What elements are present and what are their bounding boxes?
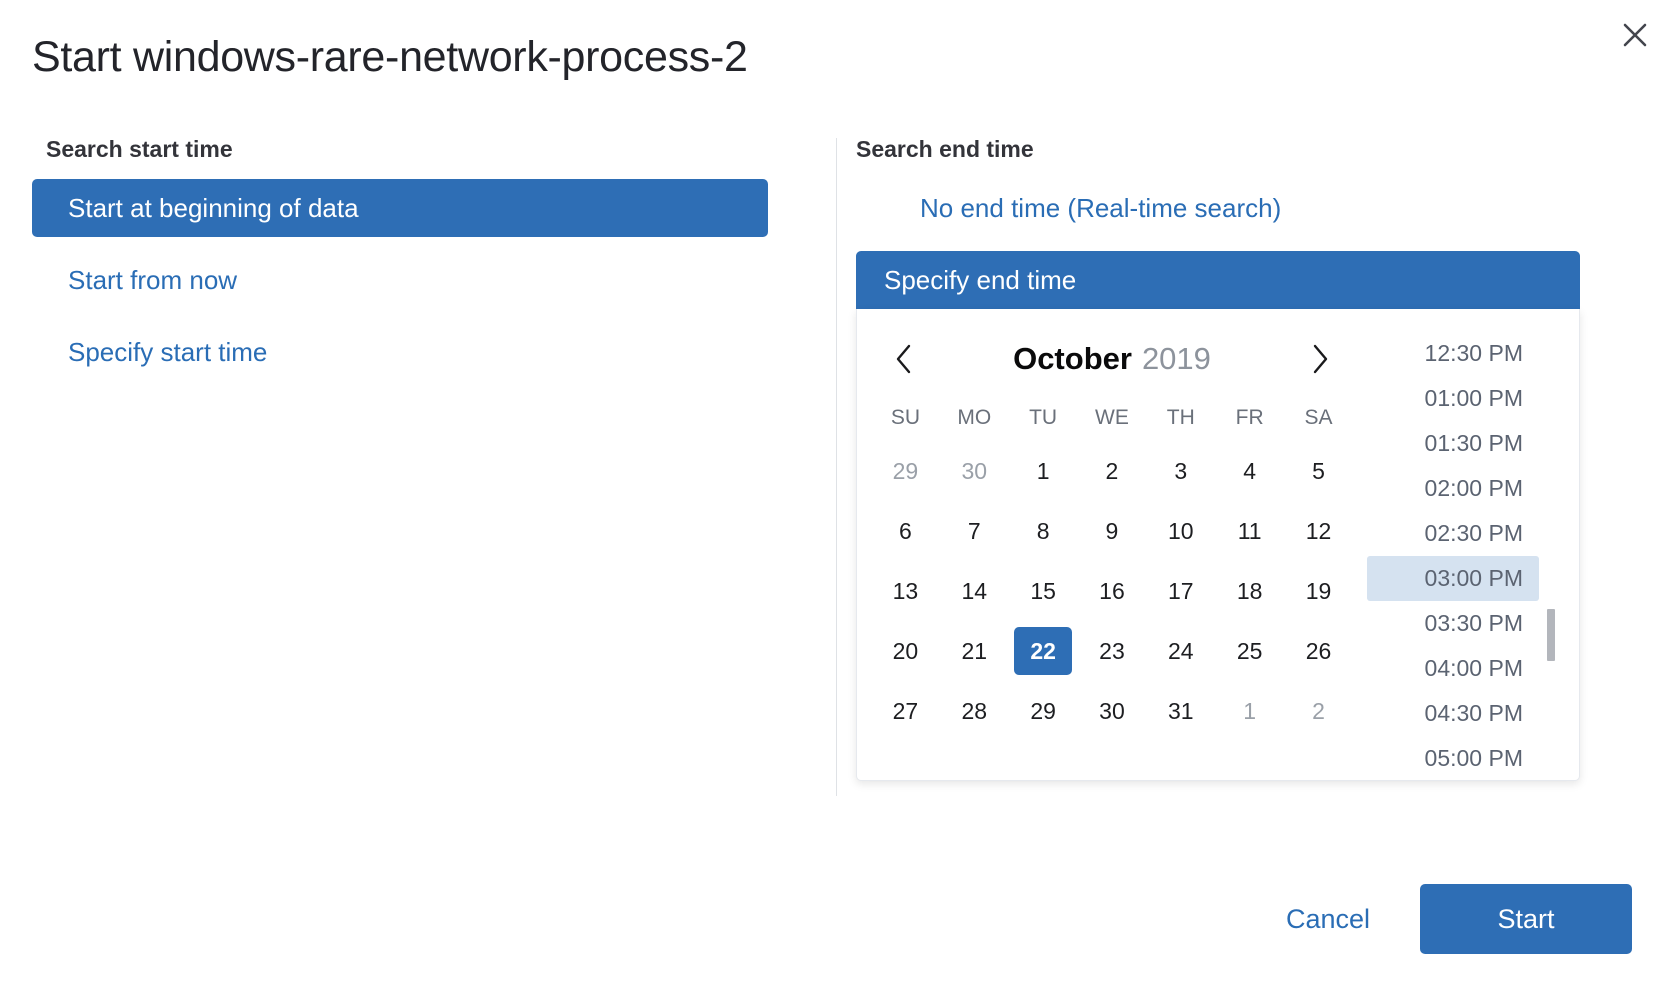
calendar-day[interactable]: 11 — [1221, 507, 1279, 555]
close-icon — [1621, 21, 1649, 49]
calendar-week-row: 293012345 — [871, 441, 1353, 501]
calendar-weekday-row: SU MO TU WE TH FR SA — [871, 395, 1353, 441]
calendar-cell: 30 — [940, 441, 1009, 501]
calendar-day[interactable]: 13 — [876, 567, 934, 615]
start-button[interactable]: Start — [1420, 884, 1632, 954]
calendar-day[interactable]: 9 — [1083, 507, 1141, 555]
spacer — [32, 237, 836, 251]
calendar-day[interactable]: 6 — [876, 507, 934, 555]
calendar-day[interactable]: 30 — [945, 447, 1003, 495]
calendar-cell: 19 — [1284, 561, 1353, 621]
page-title: Start windows-rare-network-process-2 — [32, 33, 748, 82]
calendar-day[interactable]: 4 — [1221, 447, 1279, 495]
calendar-day[interactable]: 29 — [1014, 687, 1072, 735]
calendar-day-selected[interactable]: 22 — [1014, 627, 1072, 675]
calendar-cell: 6 — [871, 501, 940, 561]
column-divider — [836, 138, 837, 796]
calendar-cell: 15 — [1009, 561, 1078, 621]
calendar-cell: 1 — [1215, 681, 1284, 741]
time-list: 12:30 PM01:00 PM01:30 PM02:00 PM02:30 PM… — [1367, 331, 1579, 780]
dialog-footer: Cancel Start — [0, 844, 1666, 994]
calendar-day[interactable]: 5 — [1290, 447, 1348, 495]
calendar-day[interactable]: 3 — [1152, 447, 1210, 495]
calendar-week-row: 272829303112 — [871, 681, 1353, 741]
time-option[interactable]: 12:30 PM — [1367, 331, 1539, 376]
weekday-we: WE — [1078, 395, 1147, 441]
calendar-cell: 26 — [1284, 621, 1353, 681]
calendar-cell: 27 — [871, 681, 940, 741]
weekday-sa: SA — [1284, 395, 1353, 441]
calendar-cell: 16 — [1078, 561, 1147, 621]
time-option[interactable]: 04:00 PM — [1367, 646, 1539, 691]
start-option-beginning-of-data[interactable]: Start at beginning of data — [32, 179, 768, 237]
calendar-day[interactable]: 10 — [1152, 507, 1210, 555]
calendar-day[interactable]: 12 — [1290, 507, 1348, 555]
calendar-cell: 9 — [1078, 501, 1147, 561]
calendar-cell: 23 — [1078, 621, 1147, 681]
calendar-cell: 10 — [1146, 501, 1215, 561]
calendar-day[interactable]: 8 — [1014, 507, 1072, 555]
calendar-day[interactable]: 16 — [1083, 567, 1141, 615]
calendar-cell: 4 — [1215, 441, 1284, 501]
time-option[interactable]: 04:30 PM — [1367, 691, 1539, 736]
calendar-day[interactable]: 1 — [1014, 447, 1072, 495]
calendar-day[interactable]: 26 — [1290, 627, 1348, 675]
chevron-right-icon[interactable] — [1299, 338, 1341, 380]
calendar-day[interactable]: 29 — [876, 447, 934, 495]
calendar-year: 2019 — [1142, 341, 1211, 376]
time-option[interactable]: 01:00 PM — [1367, 376, 1539, 421]
calendar-cell: 5 — [1284, 441, 1353, 501]
calendar-day[interactable]: 30 — [1083, 687, 1141, 735]
datetime-picker-panel: October2019 SU MO — [856, 309, 1580, 781]
search-end-time-column: Search end time No end time (Real-time s… — [856, 136, 1636, 781]
calendar-day[interactable]: 14 — [945, 567, 1003, 615]
calendar-cell: 20 — [871, 621, 940, 681]
calendar-day[interactable]: 19 — [1290, 567, 1348, 615]
calendar-day[interactable]: 7 — [945, 507, 1003, 555]
calendar-month: October — [1013, 341, 1132, 376]
calendar-cell: 12 — [1284, 501, 1353, 561]
calendar-cell: 2 — [1284, 681, 1353, 741]
calendar-day[interactable]: 25 — [1221, 627, 1279, 675]
weekday-th: TH — [1146, 395, 1215, 441]
calendar-cell: 24 — [1146, 621, 1215, 681]
calendar-day[interactable]: 2 — [1290, 687, 1348, 735]
calendar-cell: 7 — [940, 501, 1009, 561]
calendar-day[interactable]: 20 — [876, 627, 934, 675]
calendar-day[interactable]: 17 — [1152, 567, 1210, 615]
calendar-cell: 1 — [1009, 441, 1078, 501]
time-option[interactable]: 05:00 PM — [1367, 736, 1539, 780]
calendar-cell: 8 — [1009, 501, 1078, 561]
calendar: October2019 SU MO — [857, 309, 1367, 780]
time-option[interactable]: 02:00 PM — [1367, 466, 1539, 511]
start-option-specify-start-time[interactable]: Specify start time — [32, 323, 768, 381]
calendar-cell: 25 — [1215, 621, 1284, 681]
weekday-su: SU — [871, 395, 940, 441]
calendar-cell: 18 — [1215, 561, 1284, 621]
end-time-option-list: No end time (Real-time search) Specify e… — [856, 179, 1636, 309]
calendar-day[interactable]: 23 — [1083, 627, 1141, 675]
calendar-day[interactable]: 18 — [1221, 567, 1279, 615]
weekday-tu: TU — [1009, 395, 1078, 441]
calendar-cell: 2 — [1078, 441, 1147, 501]
end-option-no-end-time[interactable]: No end time (Real-time search) — [884, 179, 1608, 237]
weekday-mo: MO — [940, 395, 1009, 441]
calendar-cell: 28 — [940, 681, 1009, 741]
calendar-cell: 29 — [1009, 681, 1078, 741]
calendar-cell: 31 — [1146, 681, 1215, 741]
calendar-cell: 29 — [871, 441, 940, 501]
calendar-day[interactable]: 21 — [945, 627, 1003, 675]
time-option[interactable]: 01:30 PM — [1367, 421, 1539, 466]
start-time-option-list: Start at beginning of data Start from no… — [32, 179, 836, 381]
calendar-day[interactable]: 31 — [1152, 687, 1210, 735]
calendar-body: 2930123456789101112131415161718192021222… — [871, 441, 1353, 741]
cancel-button[interactable]: Cancel — [1280, 894, 1376, 945]
calendar-day[interactable]: 27 — [876, 687, 934, 735]
spacer — [856, 237, 1636, 251]
calendar-header: October2019 — [871, 331, 1353, 387]
start-search-dialog: Start windows-rare-network-process-2 Sea… — [0, 0, 1666, 994]
calendar-cell: 13 — [871, 561, 940, 621]
calendar-week-row: 6789101112 — [871, 501, 1353, 561]
spacer — [32, 309, 836, 323]
calendar-cell: 17 — [1146, 561, 1215, 621]
calendar-cell: 14 — [940, 561, 1009, 621]
time-option[interactable]: 03:30 PM — [1367, 601, 1539, 646]
calendar-day[interactable]: 24 — [1152, 627, 1210, 675]
calendar-day[interactable]: 2 — [1083, 447, 1141, 495]
calendar-cell: 22 — [1009, 621, 1078, 681]
calendar-week-row: 13141516171819 — [871, 561, 1353, 621]
calendar-day[interactable]: 15 — [1014, 567, 1072, 615]
time-range-columns: Search start time Start at beginning of … — [0, 136, 1666, 804]
calendar-cell: 11 — [1215, 501, 1284, 561]
time-option-selected[interactable]: 03:00 PM — [1367, 556, 1539, 601]
calendar-day[interactable]: 1 — [1221, 687, 1279, 735]
weekday-fr: FR — [1215, 395, 1284, 441]
time-list-scrollbar-thumb[interactable] — [1547, 609, 1555, 661]
calendar-grid: SU MO TU WE TH FR SA 2930123456789101112… — [871, 395, 1353, 741]
calendar-day[interactable]: 28 — [945, 687, 1003, 735]
search-start-time-label: Search start time — [32, 136, 836, 163]
start-option-from-now[interactable]: Start from now — [32, 251, 768, 309]
calendar-cell: 3 — [1146, 441, 1215, 501]
end-option-specify-end-time[interactable]: Specify end time — [856, 251, 1580, 309]
time-option[interactable]: 02:30 PM — [1367, 511, 1539, 556]
calendar-cell: 30 — [1078, 681, 1147, 741]
time-list-scrollbar-track[interactable] — [1559, 331, 1567, 776]
calendar-cell: 21 — [940, 621, 1009, 681]
time-list-panel: 12:30 PM01:00 PM01:30 PM02:00 PM02:30 PM… — [1367, 309, 1579, 780]
search-end-time-label: Search end time — [856, 136, 1636, 163]
search-start-time-column: Search start time Start at beginning of … — [32, 136, 836, 381]
close-button[interactable] — [1616, 16, 1654, 54]
chevron-left-icon[interactable] — [883, 338, 925, 380]
calendar-title: October2019 — [925, 341, 1299, 377]
calendar-week-row: 20212223242526 — [871, 621, 1353, 681]
